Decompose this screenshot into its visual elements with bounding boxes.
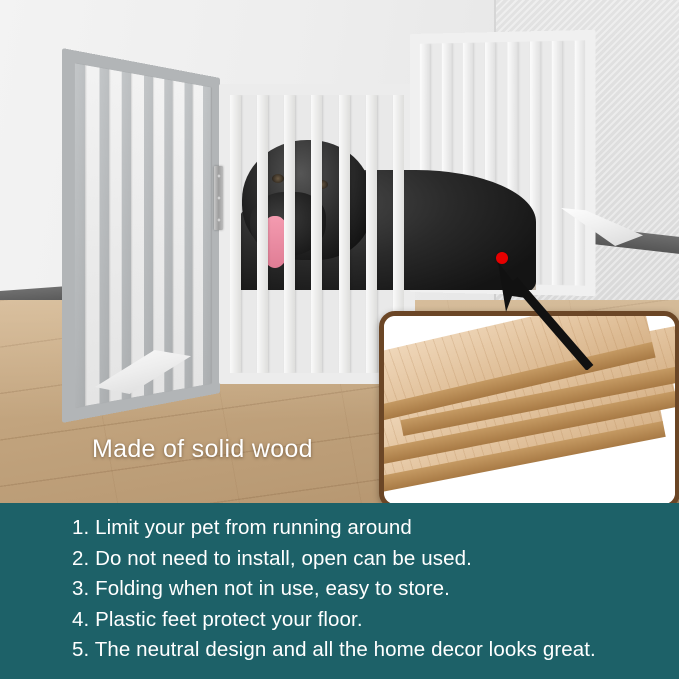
made-of-solid-wood-caption: Made of solid wood	[92, 435, 313, 464]
gate-bar	[122, 72, 131, 400]
gate-bar	[184, 83, 192, 389]
feature-list: 1. Limit your pet from running around 2.…	[72, 513, 672, 666]
feature-item: 1. Limit your pet from running around	[72, 513, 672, 544]
product-marketing-image: Made of solid wood 1. Limit your pet fro…	[0, 0, 679, 679]
feature-item: 2. Do not need to install, open can be u…	[72, 544, 672, 575]
dog-eye	[272, 174, 284, 183]
gate-bar	[284, 95, 295, 373]
gate-bar	[366, 95, 377, 373]
gate-bar	[164, 79, 172, 392]
callout-red-dot	[496, 252, 508, 264]
gate-hinge	[214, 166, 223, 230]
gate-bar	[257, 95, 268, 373]
callout-arrow-icon	[440, 240, 630, 370]
product-photo: Made of solid wood	[0, 0, 679, 503]
gate-bar	[99, 68, 109, 404]
feature-item: 3. Folding when not in use, easy to stor…	[72, 574, 672, 605]
gate-bar	[230, 95, 241, 373]
gate-bar	[203, 86, 211, 385]
gate-bar	[339, 95, 350, 373]
gate-bar	[143, 75, 152, 395]
feature-banner: 1. Limit your pet from running around 2.…	[0, 503, 679, 679]
gate-bar	[311, 95, 322, 373]
gate-left-bars	[75, 63, 211, 407]
feature-item: 4. Plastic feet protect your floor.	[72, 605, 672, 636]
gate-bar	[75, 63, 85, 407]
feature-item: 5. The neutral design and all the home d…	[72, 635, 672, 666]
